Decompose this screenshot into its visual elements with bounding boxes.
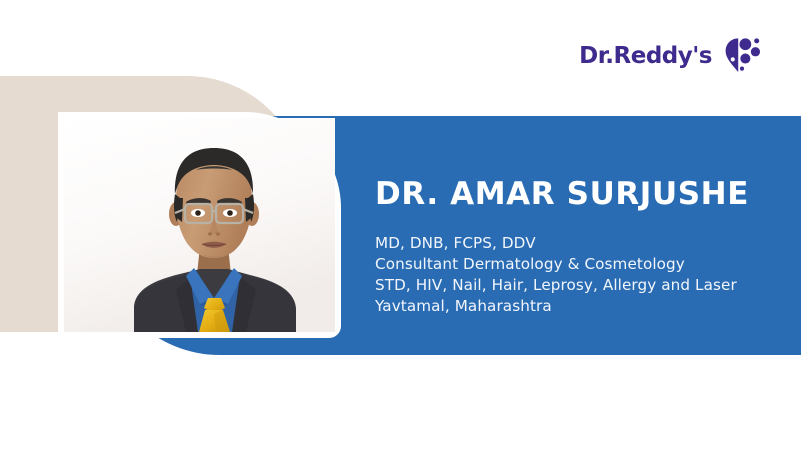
credential-line-location: Yavtamal, Maharashtra [375,296,785,317]
brand-logo: Dr.Reddy's [579,33,763,79]
slide-canvas: Dr.Reddy's [0,0,801,450]
doctor-name: DR. AMAR SURJUSHE [375,178,785,211]
doctor-headshot [64,118,335,332]
dr-reddys-heart-molecule-mark-icon [721,35,763,77]
credential-line-degrees: MD, DNB, FCPS, DDV [375,233,785,254]
brand-wordmark: Dr.Reddy's [579,45,712,68]
credential-line-role: Consultant Dermatology & Cosmetology [375,254,785,275]
doctor-info-block: DR. AMAR SURJUSHE MD, DNB, FCPS, DDV Con… [375,178,785,317]
credential-line-specialties: STD, HIV, Nail, Hair, Leprosy, Allergy a… [375,275,785,296]
